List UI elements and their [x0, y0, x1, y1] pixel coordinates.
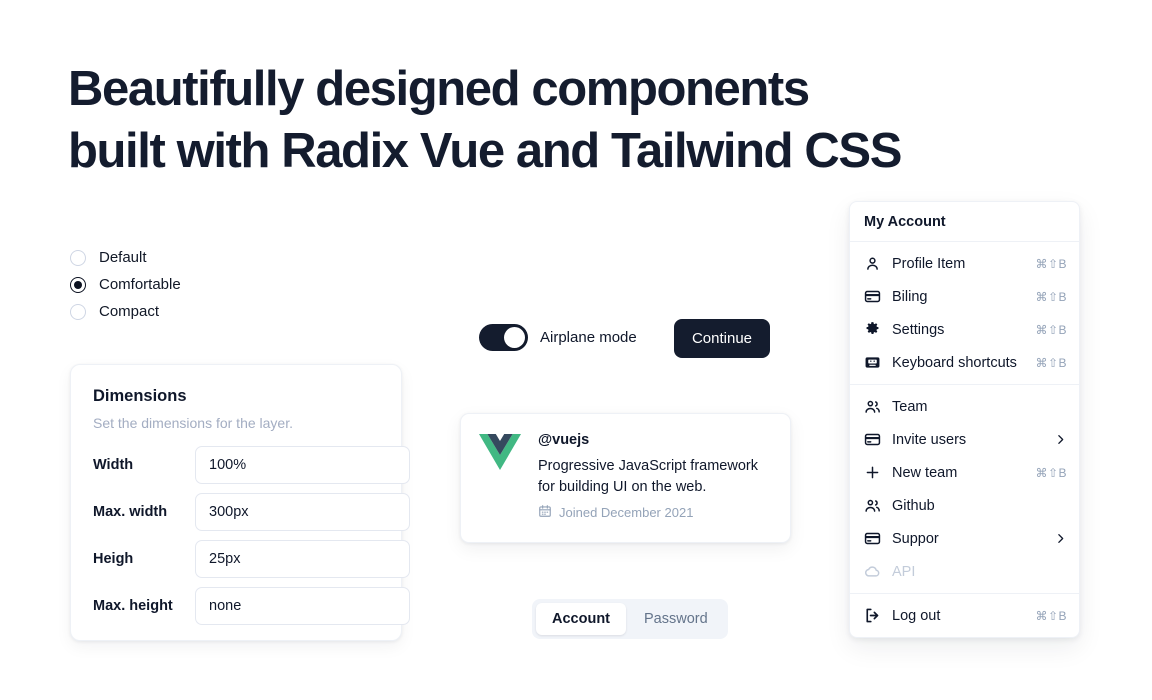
joined-row: Joined December 2021 [538, 504, 772, 521]
menu-item-settings[interactable]: Settings⌘⇧B [850, 313, 1079, 346]
menu-item-label: Team [892, 399, 1067, 415]
dimensions-field-label: Width [93, 457, 195, 473]
radio-indicator[interactable] [70, 277, 86, 293]
menu-item-shortcut: ⌘⇧B [1035, 609, 1067, 623]
menu-item-log-out[interactable]: Log out⌘⇧B [850, 599, 1079, 632]
menu-item-label: Settings [892, 322, 1024, 338]
menu-item-label: Github [892, 498, 1067, 514]
vue-hover-card: @vuejs Progressive JavaScript framework … [460, 413, 791, 543]
hover-card-body: @vuejs Progressive JavaScript framework … [538, 431, 772, 525]
credit-card-icon [864, 288, 881, 305]
radio-option-label: Compact [99, 303, 159, 321]
dimensions-card-title: Dimensions [93, 386, 379, 406]
radio-indicator[interactable] [70, 250, 86, 266]
chevron-right-icon [1054, 433, 1067, 446]
dimensions-field-row: Max. width [93, 493, 379, 531]
menu-item-shortcut: ⌘⇧B [1035, 466, 1067, 480]
gear-icon [864, 321, 881, 338]
vue-handle: @vuejs [538, 431, 772, 449]
page-title: Beautifully designed components built wi… [68, 58, 1028, 182]
dimensions-field-input[interactable] [195, 540, 410, 578]
menu-item-shortcut: ⌘⇧B [1035, 323, 1067, 337]
credit-card-icon [864, 530, 881, 547]
menu-item-shortcut: ⌘⇧B [1035, 290, 1067, 304]
radio-option-default[interactable]: Default [70, 249, 181, 267]
tab-password[interactable]: Password [628, 603, 724, 635]
logout-icon [864, 607, 881, 624]
menu-group: TeamInvite usersNew team⌘⇧BGithubSupporA… [850, 385, 1079, 593]
calendar-icon [538, 504, 552, 521]
vue-description: Progressive JavaScript framework for bui… [538, 456, 772, 498]
chevron-right-icon [1054, 532, 1067, 545]
menu-groups: Profile Item⌘⇧BBiling⌘⇧BSettings⌘⇧BKeybo… [850, 242, 1079, 637]
keyboard-icon [864, 354, 881, 371]
menu-item-label: Biling [892, 289, 1024, 305]
menu-item-suppor[interactable]: Suppor [850, 522, 1079, 555]
dimensions-field-row: Heigh [93, 540, 379, 578]
menu-item-team[interactable]: Team [850, 390, 1079, 423]
menu-item-shortcut: ⌘⇧B [1035, 257, 1067, 271]
airplane-mode-label: Airplane mode [540, 329, 637, 346]
account-dropdown-menu: My Account Profile Item⌘⇧BBiling⌘⇧BSetti… [849, 201, 1080, 638]
dimensions-field-input[interactable] [195, 446, 410, 484]
joined-text: Joined December 2021 [559, 505, 693, 520]
menu-item-label: Suppor [892, 531, 1043, 547]
radio-option-comfortable[interactable]: Comfortable [70, 276, 181, 294]
switch-knob [504, 327, 525, 348]
dimensions-field-label: Max. width [93, 504, 195, 520]
menu-item-label: Keyboard shortcuts [892, 355, 1024, 371]
plus-icon [864, 464, 881, 481]
users-icon [864, 398, 881, 415]
dimensions-field-label: Max. height [93, 598, 195, 614]
settings-tabs: AccountPassword [532, 599, 728, 639]
user-icon [864, 255, 881, 272]
cloud-icon [864, 563, 881, 580]
users-icon [864, 497, 881, 514]
menu-item-label: New team [892, 465, 1024, 481]
density-radio-group: DefaultComfortableCompact [70, 249, 181, 321]
radio-option-compact[interactable]: Compact [70, 303, 181, 321]
radio-option-label: Default [99, 249, 147, 267]
menu-item-keyboard-shortcuts[interactable]: Keyboard shortcuts⌘⇧B [850, 346, 1079, 379]
continue-button[interactable]: Continue [674, 319, 770, 358]
vue-logo-icon [479, 433, 521, 473]
dimensions-card: Dimensions Set the dimensions for the la… [70, 364, 402, 641]
menu-item-shortcut: ⌘⇧B [1035, 356, 1067, 370]
airplane-mode-switch[interactable] [479, 324, 528, 351]
airplane-mode-row: Airplane mode [479, 324, 637, 351]
menu-item-label: Invite users [892, 432, 1043, 448]
dimensions-field-row: Width [93, 446, 379, 484]
dimensions-card-description: Set the dimensions for the layer. [93, 414, 379, 432]
menu-group: Log out⌘⇧B [850, 594, 1079, 637]
radio-indicator[interactable] [70, 304, 86, 320]
hero-section: Beautifully designed components built wi… [68, 58, 1028, 182]
dimensions-field-input[interactable] [195, 493, 410, 531]
menu-item-github[interactable]: Github [850, 489, 1079, 522]
menu-item-label: Log out [892, 608, 1024, 624]
menu-item-profile-item[interactable]: Profile Item⌘⇧B [850, 247, 1079, 280]
menu-item-new-team[interactable]: New team⌘⇧B [850, 456, 1079, 489]
credit-card-icon [864, 431, 881, 448]
menu-item-invite-users[interactable]: Invite users [850, 423, 1079, 456]
dimensions-field-row: Max. height [93, 587, 379, 625]
menu-group: Profile Item⌘⇧BBiling⌘⇧BSettings⌘⇧BKeybo… [850, 242, 1079, 384]
dimensions-field-label: Heigh [93, 551, 195, 567]
tab-account[interactable]: Account [536, 603, 626, 635]
menu-header: My Account [850, 202, 1079, 241]
dimensions-field-input[interactable] [195, 587, 410, 625]
menu-item-label: Profile Item [892, 256, 1024, 272]
menu-item-label: API [892, 564, 1067, 580]
menu-item-api: API [850, 555, 1079, 588]
dimensions-field-list: WidthMax. widthHeighMax. height [93, 446, 379, 625]
radio-option-label: Comfortable [99, 276, 181, 294]
menu-item-biling[interactable]: Biling⌘⇧B [850, 280, 1079, 313]
